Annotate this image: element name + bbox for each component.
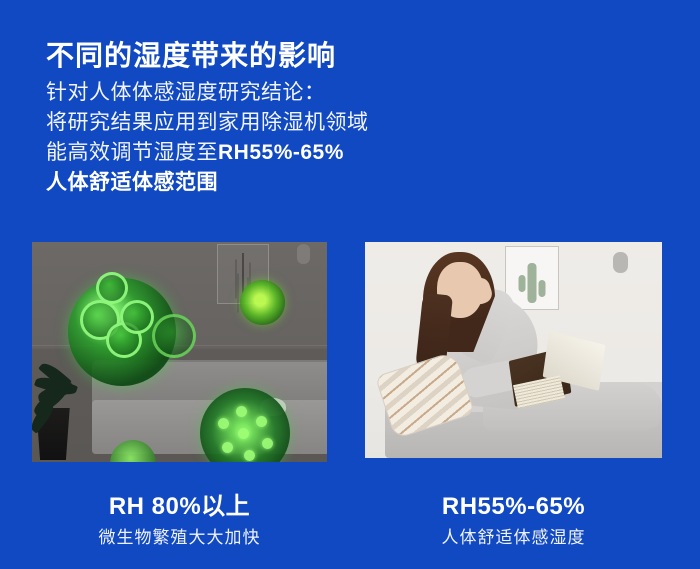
microbe-spike (262, 438, 273, 449)
microbe-ring (152, 314, 196, 358)
microbe-spike (238, 428, 249, 439)
microbe-cell (120, 300, 154, 334)
wall-speaker-icon (613, 252, 628, 273)
right-caption-sub: 人体舒适体感湿度 (365, 526, 662, 550)
page-title: 不同的湿度带来的影响 (46, 37, 336, 75)
right-caption-title: RH55%-65% (365, 492, 662, 522)
left-caption-title: RH 80%以上 (32, 492, 327, 522)
microbe-spike (236, 406, 247, 417)
microbe-spike (256, 416, 267, 427)
microbe-small-top (240, 280, 285, 325)
body-line-3: 能高效调节湿度至RH55%-65% (46, 138, 466, 168)
bright-room-scene (365, 242, 662, 458)
microbe-spike (222, 442, 233, 453)
wall-lamp-icon (297, 244, 310, 264)
left-photo (32, 242, 327, 462)
right-caption: RH55%-65% 人体舒适体感湿度 (365, 492, 662, 550)
body-line-1: 针对人体体感湿度研究结论： (46, 78, 466, 108)
left-caption-sub: 微生物繁殖大大加快 (32, 526, 327, 550)
right-photo (365, 242, 662, 458)
body-line-4: 人体舒适体感范围 (46, 168, 466, 198)
cactus-icon (528, 263, 537, 303)
body-copy: 针对人体体感湿度研究结论： 将研究结果应用到家用除湿机领域 能高效调节湿度至RH… (46, 78, 466, 198)
humidity-infographic-poster: 不同的湿度带来的影响 针对人体体感湿度研究结论： 将研究结果应用到家用除湿机领域… (0, 0, 700, 569)
photo-row (0, 242, 700, 464)
body-line-2: 将研究结果应用到家用除湿机领域 (46, 108, 466, 138)
microbe-cell (96, 272, 128, 304)
left-caption: RH 80%以上 微生物繁殖大大加快 (32, 492, 327, 550)
body-line-3-prefix: 能高效调节湿度至 (46, 141, 218, 164)
body-line-3-highlight: RH55%-65% (218, 141, 344, 164)
microbe-spike (244, 450, 255, 461)
captions-row: RH 80%以上 微生物繁殖大大加快 RH55%-65% 人体舒适体感湿度 (0, 492, 700, 564)
microbe-spike (218, 418, 229, 429)
dark-room-scene (32, 242, 327, 462)
